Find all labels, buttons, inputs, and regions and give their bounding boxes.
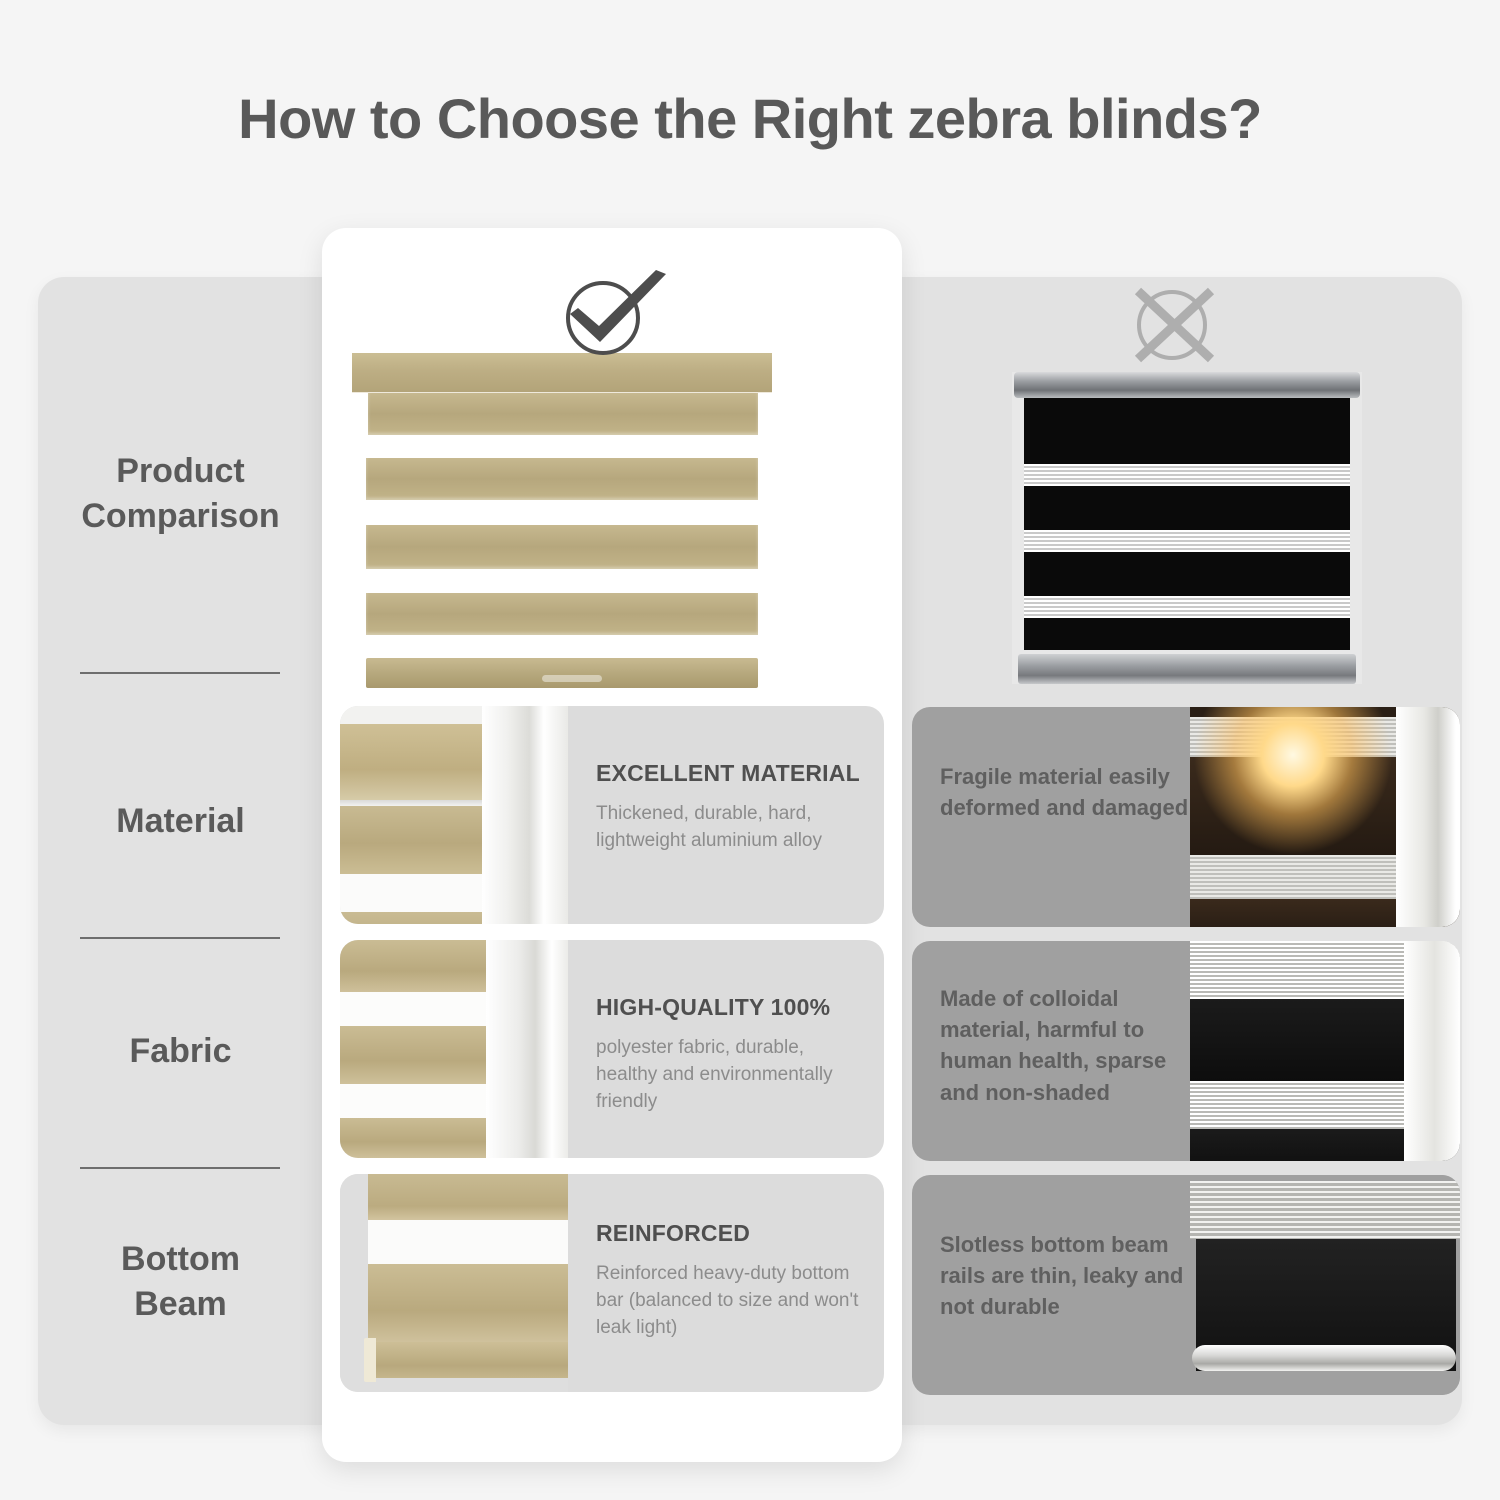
thin-bottom-rail-photo (1190, 1175, 1460, 1395)
good-feature-text-material: EXCELLENT MATERIAL Thickened, durable, h… (568, 706, 884, 924)
beige-fabric-closeup-photo (340, 940, 568, 1158)
photo-sheer-gap (340, 992, 508, 1026)
blind-fabric-body (1024, 398, 1350, 650)
blind-headrail (1014, 372, 1360, 398)
photo-bottom-bar (368, 1342, 568, 1378)
photo-window-frame (1404, 941, 1460, 1161)
photo-window-frame (1396, 707, 1460, 927)
row-label-column: Product Comparison Material Fabric Botto… (38, 277, 323, 1425)
bad-feature-description: Slotless bottom beam rails are thin, lea… (940, 1229, 1210, 1323)
hero-good-product-image (352, 353, 772, 701)
bad-feature-card-fabric: Made of colloidal material, harmful to h… (912, 941, 1460, 1161)
photo-slat (368, 1174, 568, 1220)
circle-check-icon (556, 268, 676, 360)
photo-thin-bottom-rail (1192, 1345, 1456, 1371)
sun-glare-icon (1193, 707, 1393, 855)
photo-sheer-band (1190, 1181, 1460, 1239)
beige-bottom-bar-closeup-photo (340, 1174, 568, 1392)
feature-title: EXCELLENT MATERIAL (596, 760, 862, 787)
photo-window-frame (486, 940, 568, 1158)
row-label-material: Material (38, 799, 323, 844)
photo-sheer-gap (340, 1084, 508, 1118)
black-zebra-blind-illustration (1012, 372, 1362, 684)
row-label-line-2: Beam (38, 1282, 323, 1327)
photo-slat (340, 940, 508, 992)
row-label-line-1: Material (38, 799, 323, 844)
bad-feature-card-bottom-beam: Slotless bottom beam rails are thin, lea… (912, 1175, 1460, 1395)
beige-blind-window-frame-photo (340, 706, 568, 924)
blind-slat (366, 458, 758, 500)
beige-zebra-blind-illustration (352, 353, 772, 701)
photo-bottom-bar-endcap (364, 1338, 376, 1382)
feature-description: polyester fabric, durable, healthy and e… (596, 1035, 862, 1116)
good-feature-text-fabric: HIGH-QUALITY 100% polyester fabric, dura… (568, 940, 884, 1158)
bad-feature-description: Fragile material easily deformed and dam… (940, 761, 1210, 823)
bad-feature-card-material: Fragile material easily deformed and dam… (912, 707, 1460, 927)
photo-slat (340, 1118, 508, 1158)
comparison-infographic: How to Choose the Right zebra blinds? Pr… (0, 0, 1500, 1500)
blind-bottom-bar (366, 658, 758, 688)
bad-feature-description: Made of colloidal material, harmful to h… (940, 983, 1210, 1108)
row-label-product-comparison: Product Comparison (38, 449, 323, 539)
good-feature-text-bottom-beam: REINFORCED Reinforced heavy-duty bottom … (568, 1174, 884, 1392)
row-label-line-2: Comparison (38, 494, 323, 539)
blind-sheer-band (1024, 596, 1350, 618)
blind-slat (366, 525, 758, 569)
photo-slat (340, 1026, 508, 1084)
row-label-line-1: Product (38, 449, 323, 494)
row-divider-3 (80, 1167, 280, 1169)
row-label-bottom-beam: Bottom Beam (38, 1237, 323, 1327)
blind-bottom-rail (1018, 654, 1356, 684)
row-divider-2 (80, 937, 280, 939)
hero-bad-product-image (1012, 372, 1362, 684)
good-feature-card-fabric: HIGH-QUALITY 100% polyester fabric, dura… (340, 940, 884, 1158)
sparse-sheer-fabric-photo (1190, 941, 1460, 1161)
page-title: How to Choose the Right zebra blinds? (0, 86, 1500, 151)
feature-description: Reinforced heavy-duty bottom bar (balanc… (596, 1261, 862, 1342)
photo-window-frame (482, 706, 568, 924)
good-feature-card-material: EXCELLENT MATERIAL Thickened, durable, h… (340, 706, 884, 924)
blind-slat (368, 393, 758, 435)
row-label-fabric: Fabric (38, 1029, 323, 1074)
bad-product-column: Fragile material easily deformed and dam… (912, 277, 1462, 1425)
good-product-column: EXCELLENT MATERIAL Thickened, durable, h… (322, 228, 902, 1462)
row-label-line-1: Fabric (38, 1029, 323, 1074)
photo-slat (368, 1264, 568, 1342)
feature-title: HIGH-QUALITY 100% (596, 994, 862, 1021)
row-label-line-1: Bottom (38, 1237, 323, 1282)
feature-title: REINFORCED (596, 1220, 862, 1247)
sun-glare-through-blind-photo (1190, 707, 1460, 927)
circle-cross-icon (1122, 280, 1222, 370)
blind-slat (366, 593, 758, 635)
blind-sheer-band (1024, 530, 1350, 552)
row-divider-1 (80, 672, 280, 674)
blind-sheer-band (1024, 464, 1350, 486)
feature-description: Thickened, durable, hard, lightweight al… (596, 801, 862, 855)
photo-sheer-gap (368, 1220, 568, 1264)
good-feature-card-bottom-beam: REINFORCED Reinforced heavy-duty bottom … (340, 1174, 884, 1392)
